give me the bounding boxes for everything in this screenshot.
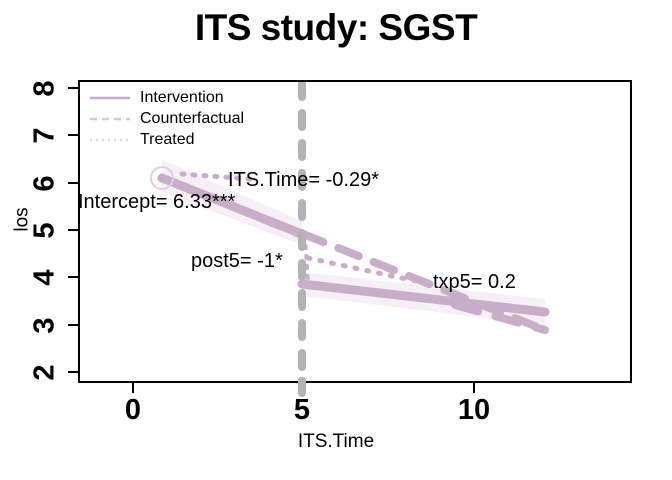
- ytick-label-5: 5: [31, 214, 60, 248]
- legend-key-solid-icon: [88, 88, 132, 109]
- legend-label-counterfactual: Counterfactual: [140, 110, 244, 128]
- ytick-label-4: 4: [31, 261, 60, 295]
- legend-item-counterfactual[interactable]: Counterfactual: [88, 109, 258, 130]
- legend-item-intervention[interactable]: Intervention: [88, 88, 258, 109]
- ytick-label-8: 8: [31, 72, 60, 106]
- legend-item-treated[interactable]: Treated: [88, 130, 258, 151]
- page-title: ITS study: SGST: [0, 9, 672, 46]
- annotation-txp5: txp5= 0.2: [433, 272, 516, 292]
- annotation-intercept: Intercept= 6.33***: [78, 192, 235, 212]
- legend-key-dotted-icon: [88, 130, 132, 151]
- y-axis-label: los: [13, 190, 32, 250]
- y-tick-marks: [68, 88, 78, 372]
- ytick-label-3: 3: [31, 309, 60, 343]
- ytick-label-2: 2: [31, 356, 60, 390]
- legend: Intervention Counterfactual Treated: [88, 88, 258, 151]
- xtick-label-10: 10: [448, 396, 500, 425]
- xtick-label-5: 5: [282, 396, 322, 425]
- ytick-label-7: 7: [31, 119, 60, 153]
- x-tick-marks: [133, 383, 474, 393]
- x-axis-label: ITS.Time: [0, 432, 672, 451]
- chart-page: ITS study: SGST: [0, 0, 672, 480]
- xtick-label-0: 0: [113, 396, 153, 425]
- legend-label-treated: Treated: [140, 131, 195, 149]
- annotation-post5: post5= -1*: [191, 251, 283, 271]
- annotation-its-time: ITS.Time= -0.29*: [228, 170, 379, 190]
- legend-label-intervention: Intervention: [140, 89, 224, 107]
- ytick-label-6: 6: [31, 167, 60, 201]
- legend-key-dashed-icon: [88, 109, 132, 130]
